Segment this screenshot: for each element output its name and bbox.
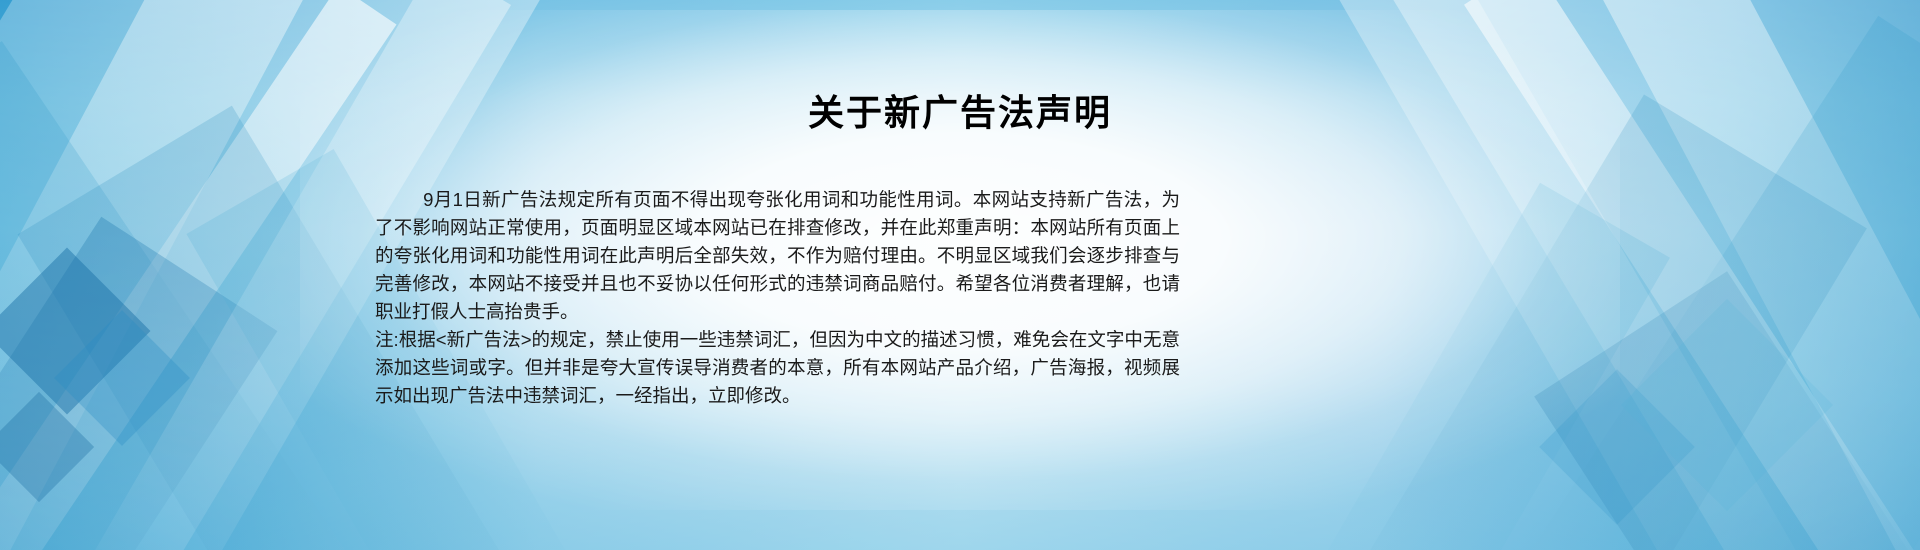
statement-paragraph-main: 9月1日新广告法规定所有页面不得出现夸张化用词和功能性用词。本网站支持新广告法，… [375, 186, 1180, 326]
statement-paragraph-note: 注:根据<新广告法>的规定，禁止使用一些违禁词汇，但因为中文的描述习惯，难免会在… [375, 326, 1180, 410]
advertising-law-statement-banner: 关于新广告法声明 9月1日新广告法规定所有页面不得出现夸张化用词和功能性用词。本… [0, 0, 1920, 550]
page-title: 关于新广告法声明 [0, 84, 1920, 136]
statement-body: 9月1日新广告法规定所有页面不得出现夸张化用词和功能性用词。本网站支持新广告法，… [375, 186, 1180, 410]
statement-content: 关于新广告法声明 9月1日新广告法规定所有页面不得出现夸张化用词和功能性用词。本… [0, 0, 1920, 550]
